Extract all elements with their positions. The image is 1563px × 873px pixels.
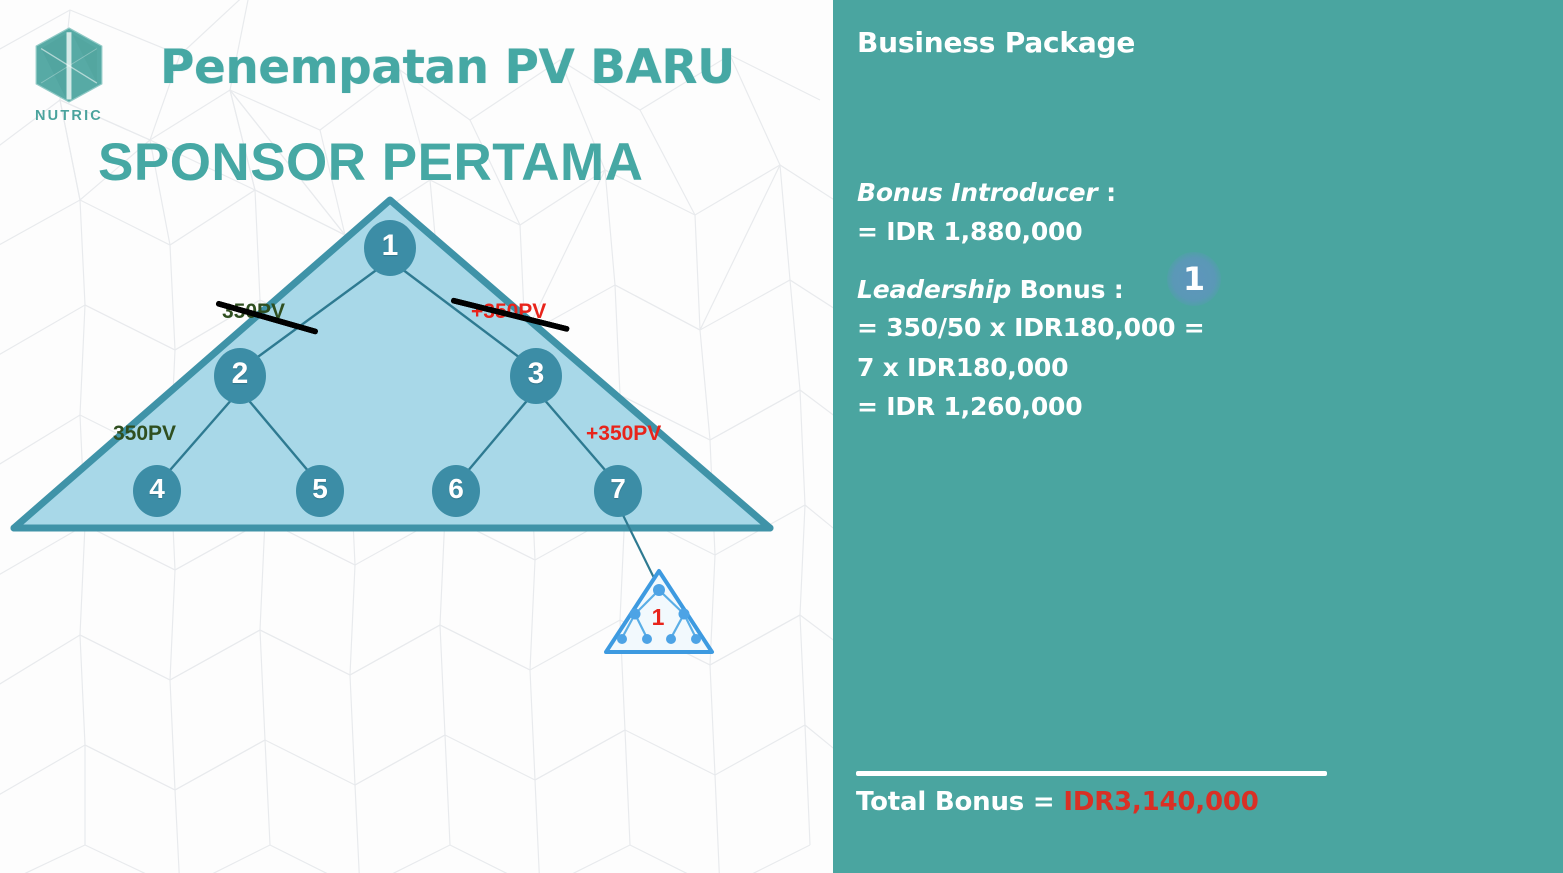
status-badge-one: 1 [1167,252,1221,306]
page-subtitle: SPONSOR PERTAMA [98,132,738,193]
pv-label-right-bottom: +350PV [586,422,661,446]
tree-node-6[interactable] [432,465,480,517]
bonus-introducer-label: Bonus Introducer : [857,178,1116,207]
tree-node-5[interactable] [296,465,344,517]
leadership-total-line: = IDR 1,260,000 [857,392,1082,421]
leadership-calc-line-1: = 350/50 x IDR180,000 = [857,313,1205,342]
tree-node-1[interactable] [364,220,416,276]
tree-node-4[interactable] [133,465,181,517]
brand-logo: NUTRIC [28,24,114,134]
tree-node-2[interactable] [214,348,266,404]
total-bonus-row: Total Bonus = IDR3,140,000 [856,787,1259,817]
slide-canvas: NUTRIC Penempatan PV BARU SPONSOR PERTAM… [0,0,1563,873]
bonus-introducer-value: = IDR 1,880,000 [857,217,1082,246]
tree-node-7[interactable] [594,465,642,517]
mini-triangle-label: 1 [645,604,671,631]
leadership-calc-line-2: 7 x IDR180,000 [857,353,1068,382]
total-divider [856,771,1327,776]
left-content-panel: NUTRIC Penempatan PV BARU SPONSOR PERTAM… [0,0,833,873]
leadership-bonus-label: Leadership Bonus : [857,275,1124,304]
pv-label-left-bottom: 350PV [113,422,176,446]
tree-node-3[interactable] [510,348,562,404]
page-title: Penempatan PV BARU [160,40,790,95]
hexagon-logo-icon [28,24,110,106]
business-package-panel: Business Package Bonus Introducer : = ID… [833,0,1563,873]
total-bonus-label: Total Bonus = [856,787,1063,817]
bonus-introducer-emphasis: Bonus Introducer [857,178,1098,207]
leadership-rest: Bonus : [1011,275,1124,304]
leadership-emphasis: Leadership [857,275,1011,304]
brand-name: NUTRIC [28,108,110,124]
panel-title: Business Package [857,26,1135,59]
total-bonus-value: IDR3,140,000 [1063,787,1258,817]
bonus-introducer-rest: : [1098,178,1116,207]
